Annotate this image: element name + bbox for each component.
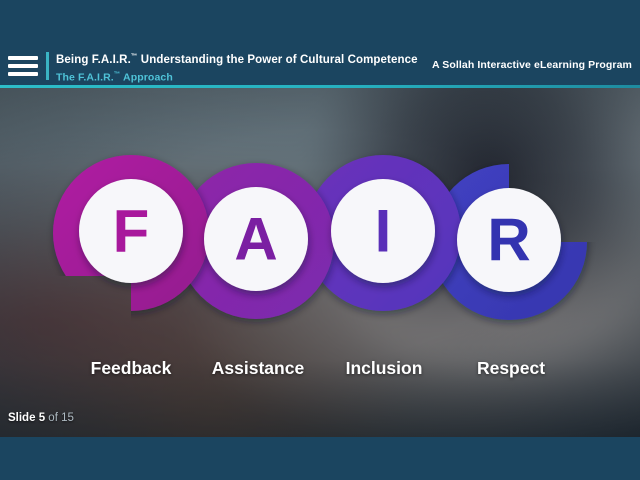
slide-counter-middle: of xyxy=(48,412,58,424)
player-footer-bar xyxy=(0,437,640,480)
course-title: Being F.A.I.R.™ Understanding the Power … xyxy=(56,50,418,67)
slide-counter: Slide 5 of 15 xyxy=(8,412,74,424)
hamburger-bar-2 xyxy=(8,64,38,68)
svg-text:I: I xyxy=(375,198,392,265)
course-title-rest: Understanding the Power of Cultural Comp… xyxy=(138,54,418,66)
top-band xyxy=(0,0,640,48)
header-title-block: Being F.A.I.R.™ Understanding the Power … xyxy=(56,50,418,84)
elearning-slide-player: Being F.A.I.R.™ Understanding the Power … xyxy=(0,0,640,480)
slide-counter-total: 15 xyxy=(61,412,74,424)
module-subtitle-rest: Approach xyxy=(120,71,172,83)
hamburger-menu-icon[interactable] xyxy=(8,53,38,79)
fair-label-respect: Respect xyxy=(440,358,582,379)
fair-label-assistance: Assistance xyxy=(187,358,329,379)
module-subtitle-text: The F.A.I.R. xyxy=(56,71,114,83)
svg-text:F: F xyxy=(113,198,150,265)
slide-content-area: F A I R Feedback Assistance Inclusion Re… xyxy=(0,88,640,437)
fair-label-inclusion: Inclusion xyxy=(313,358,455,379)
hamburger-bar-1 xyxy=(8,56,38,60)
course-title-trademark: ™ xyxy=(131,53,138,60)
program-branding-tag: A Sollah Interactive eLearning Program xyxy=(432,59,632,71)
header-divider xyxy=(46,52,49,80)
fair-labels-row: Feedback Assistance Inclusion Respect xyxy=(0,350,640,386)
module-subtitle: The F.A.I.R.™ Approach xyxy=(56,68,418,85)
course-title-text: Being F.A.I.R. xyxy=(56,54,131,66)
svg-text:R: R xyxy=(487,207,530,274)
svg-text:A: A xyxy=(234,206,277,273)
hamburger-bar-3 xyxy=(8,72,38,76)
fair-label-feedback: Feedback xyxy=(60,358,202,379)
slide-counter-prefix: Slide xyxy=(8,412,35,424)
